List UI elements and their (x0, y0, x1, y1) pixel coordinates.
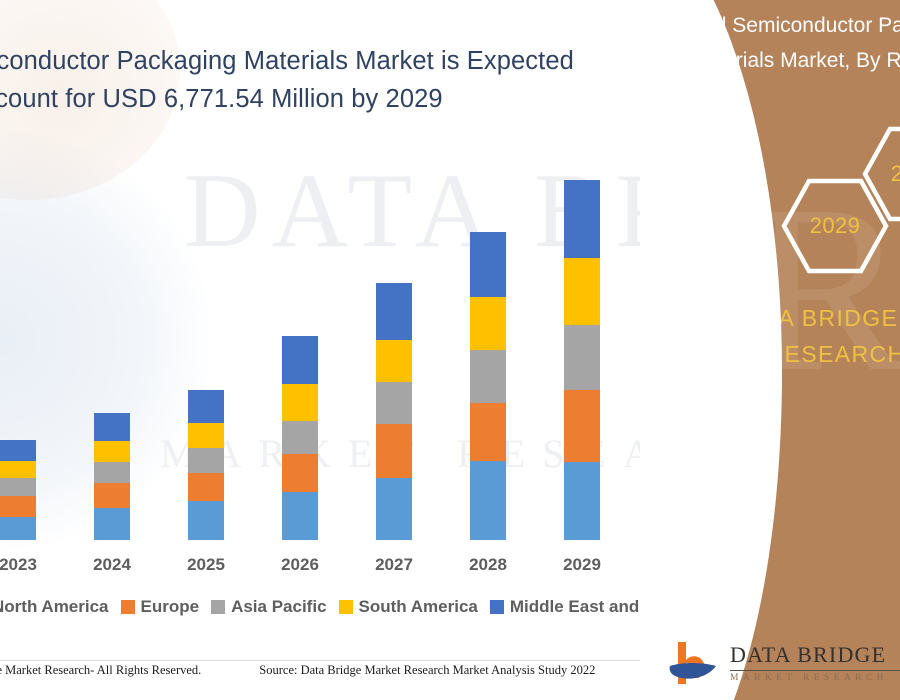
bar-segment-north-america (188, 501, 224, 540)
bar-segment-asia-pacific (470, 350, 506, 403)
screenshot-canvas: DATA BRIDGE MARKET RESEARCH Semiconducto… (0, 0, 900, 700)
x-axis-labels: 2023202420252026202720282029 (0, 555, 660, 585)
legend-label: Asia Pacific (231, 597, 326, 617)
legend-label: South America (359, 597, 478, 617)
hexagon-year-2022-label: 2022 (891, 161, 900, 187)
x-axis-label-2028: 2028 (448, 555, 528, 575)
bar-segment-asia-pacific (376, 382, 412, 424)
legend-item-asia-pacific[interactable]: Asia Pacific (211, 597, 326, 617)
bar-segment-europe (564, 390, 600, 462)
stacked-bar-chart: 2023202420252026202720282029 North Ameri… (0, 0, 700, 700)
bar-segment-north-america (282, 492, 318, 540)
plot-area (0, 120, 660, 541)
bar-segment-south-america (188, 423, 224, 448)
chart-legend: North AmericaEuropeAsia PacificSouth Ame… (0, 597, 672, 617)
bar-2025 (188, 390, 224, 540)
bar-segment-middle-east-and-africa (564, 180, 600, 258)
hexagon-year-2022: 2022 (862, 126, 900, 222)
bar-segment-asia-pacific (94, 462, 130, 483)
logo-mark-icon (668, 640, 726, 686)
legend-swatch-icon (211, 600, 225, 614)
bar-2028 (470, 232, 506, 540)
legend-item-north-america[interactable]: North America (0, 597, 109, 617)
x-axis-label-2026: 2026 (260, 555, 340, 575)
bar-segment-south-america (282, 384, 318, 421)
bar-segment-asia-pacific (282, 421, 318, 454)
bar-segment-middle-east-and-africa (470, 232, 506, 297)
bar-segment-europe (94, 483, 130, 508)
data-bridge-logo: DATA BRIDGE MARKET RESEARCH (668, 640, 900, 690)
bar-segment-south-america (376, 340, 412, 382)
bar-segment-europe (282, 454, 318, 492)
logo-wordmark: DATA BRIDGE MARKET RESEARCH (730, 642, 900, 683)
legend-item-europe[interactable]: Europe (121, 597, 200, 617)
bar-segment-asia-pacific (0, 478, 36, 496)
bar-segment-north-america (564, 462, 600, 540)
bar-segment-europe (0, 496, 36, 517)
logo-tagline: MARKET RESEARCH (730, 673, 900, 683)
bar-segment-asia-pacific (188, 448, 224, 473)
bar-2024 (94, 413, 130, 540)
legend-swatch-icon (490, 600, 504, 614)
legend-swatch-icon (121, 600, 135, 614)
legend-label: Europe (141, 597, 200, 617)
bar-segment-middle-east-and-africa (376, 283, 412, 340)
bar-2023 (0, 440, 36, 540)
legend-item-south-america[interactable]: South America (339, 597, 478, 617)
bar-segment-south-america (470, 297, 506, 350)
legend-label: North America (0, 597, 109, 617)
x-axis-label-2024: 2024 (72, 555, 152, 575)
bar-2027 (376, 283, 412, 540)
bar-segment-europe (470, 403, 506, 461)
legend-swatch-icon (339, 600, 353, 614)
logo-name: DATA BRIDGE (730, 642, 900, 671)
bar-segment-middle-east-and-africa (282, 336, 318, 384)
x-axis-label-2029: 2029 (542, 555, 622, 575)
bar-segment-south-america (564, 258, 600, 325)
footer: Bridge Market Research- All Rights Reser… (0, 663, 668, 678)
bar-2029 (564, 180, 600, 540)
x-axis-label-2027: 2027 (354, 555, 434, 575)
bar-segment-europe (376, 424, 412, 478)
bar-segment-middle-east-and-africa (0, 440, 36, 461)
bar-segment-north-america (470, 461, 506, 540)
hexagon-year-2029-label: 2029 (810, 213, 861, 239)
chart-panel: DATA BRIDGE MARKET RESEARCH Semiconducto… (0, 0, 700, 700)
bar-segment-north-america (94, 508, 130, 540)
bar-2026 (282, 336, 318, 540)
bar-segment-north-america (0, 517, 36, 540)
bar-segment-middle-east-and-africa (94, 413, 130, 441)
x-axis-label-2025: 2025 (166, 555, 246, 575)
bar-segment-middle-east-and-africa (188, 390, 224, 423)
x-axis-label-2023: 2023 (0, 555, 58, 575)
bar-segment-north-america (376, 478, 412, 540)
brand-panel: BR Global Semiconductor Packaging Materi… (640, 0, 900, 700)
footer-copyright: Bridge Market Research- All Rights Reser… (0, 663, 201, 678)
bar-segment-south-america (0, 461, 36, 478)
bar-segment-europe (188, 473, 224, 501)
axis-baseline (0, 660, 648, 661)
bar-segment-south-america (94, 441, 130, 462)
footer-source: Source: Data Bridge Market Research Mark… (259, 663, 595, 678)
bar-segment-asia-pacific (564, 325, 600, 390)
